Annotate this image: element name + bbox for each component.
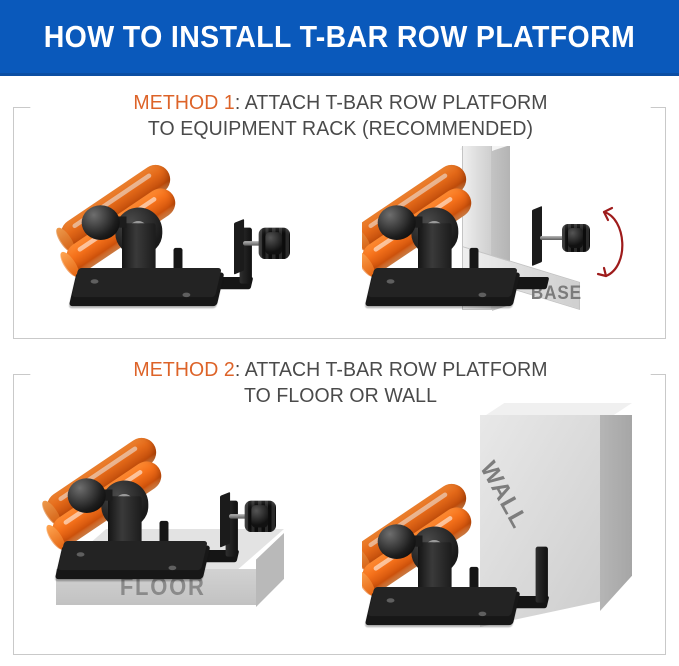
clamp-knob-icon bbox=[245, 501, 276, 532]
mounting-hole bbox=[91, 279, 99, 283]
mounting-hole bbox=[77, 552, 85, 556]
rotation-arrow-icon bbox=[590, 202, 638, 286]
figure-2b: WALL bbox=[362, 397, 662, 647]
method-2-title-line1: : ATTACH T-BAR ROW PLATFORM bbox=[235, 358, 548, 381]
product-assembly bbox=[66, 156, 290, 324]
figure-1b: BASE bbox=[362, 146, 662, 336]
product-assembly bbox=[52, 429, 276, 597]
clamp-knob-icon bbox=[562, 224, 590, 252]
ball-knob-icon bbox=[378, 524, 416, 559]
figure-1a bbox=[66, 146, 296, 316]
mounting-hole bbox=[478, 293, 486, 297]
method-1-label: METHOD 1 bbox=[133, 91, 234, 114]
method-2-panel: METHOD 2: ATTACH T-BAR ROW PLATFORM TO F… bbox=[13, 374, 666, 655]
method-2-label: METHOD 2 bbox=[133, 358, 234, 381]
ball-knob-icon bbox=[68, 478, 106, 513]
clamp-arm-vertical bbox=[536, 547, 548, 603]
instruction-sheet: HOW TO INSTALL T-BAR ROW PLATFORM METHOD… bbox=[0, 0, 679, 666]
figure-2a: FLOOR bbox=[42, 421, 332, 646]
mounting-hole bbox=[168, 566, 176, 570]
mounting-hole bbox=[387, 598, 395, 602]
clamp-plate bbox=[234, 219, 244, 275]
header-banner: HOW TO INSTALL T-BAR ROW PLATFORM bbox=[0, 0, 679, 76]
page-title: HOW TO INSTALL T-BAR ROW PLATFORM bbox=[44, 19, 635, 55]
clamp-knob-icon bbox=[259, 228, 290, 259]
method-1-title: METHOD 1: ATTACH T-BAR ROW PLATFORM TO E… bbox=[30, 90, 650, 141]
method-1-panel: METHOD 1: ATTACH T-BAR ROW PLATFORM TO E… bbox=[13, 107, 666, 339]
ball-knob-icon bbox=[378, 205, 416, 240]
mounting-hole bbox=[182, 293, 190, 297]
wall-edge-face bbox=[600, 415, 632, 611]
product-assembly bbox=[362, 475, 586, 643]
clamp-plate bbox=[220, 492, 230, 548]
method-1-title-line2: TO EQUIPMENT RACK (RECOMMENDED) bbox=[30, 116, 650, 141]
ball-knob-icon bbox=[82, 205, 120, 240]
mounting-hole bbox=[387, 279, 395, 283]
method-1-title-line1: : ATTACH T-BAR ROW PLATFORM bbox=[235, 91, 548, 114]
mounting-hole bbox=[478, 612, 486, 616]
